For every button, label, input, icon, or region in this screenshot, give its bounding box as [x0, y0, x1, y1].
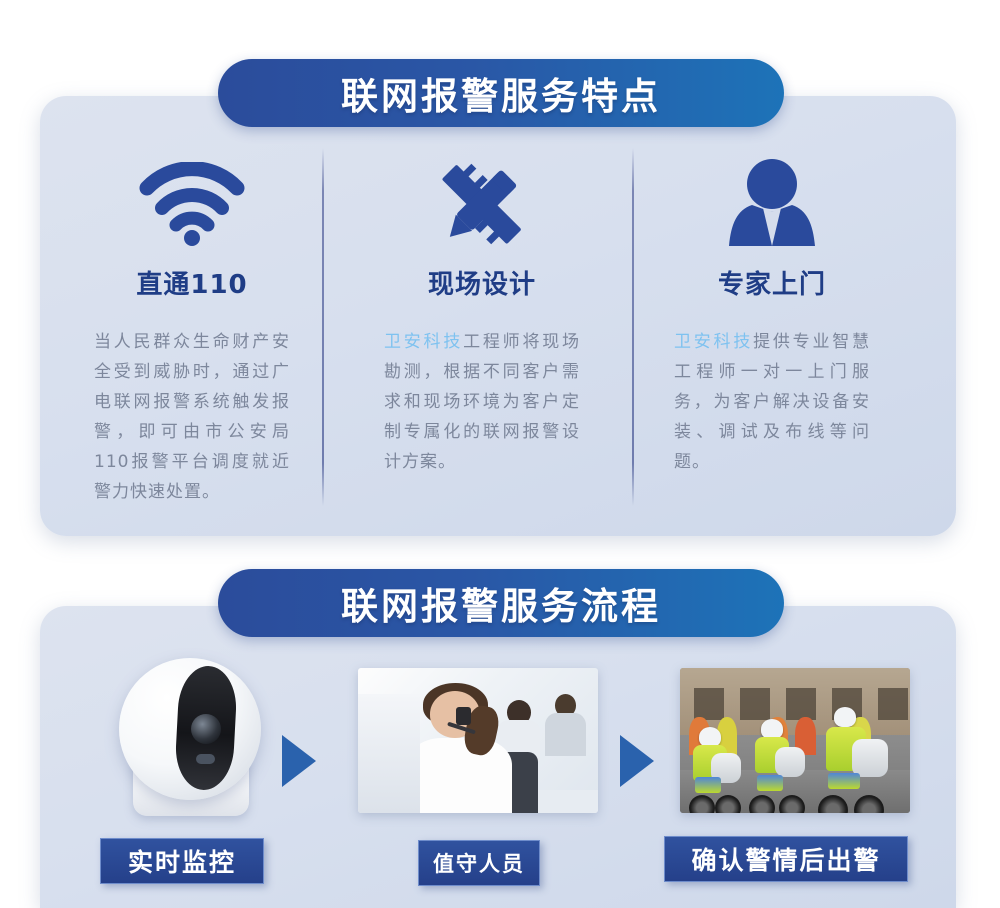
features-heading-pill: 联网报警服务特点 — [218, 59, 784, 127]
right-triangle-arrow-icon-2 — [620, 735, 654, 787]
flow-step-2-label: 值守人员 — [418, 840, 540, 886]
feature-title-2: 现场设计 — [352, 264, 612, 301]
flow-step-1-label-text: 实时监控 — [128, 843, 236, 879]
camera-ir-sensor — [196, 754, 215, 764]
camera-lens — [191, 714, 221, 744]
feature-column-1: 直通110 当人民群众生命财产安全受到威胁时，通过广电联网报警系统触发报警，即可… — [62, 150, 322, 507]
pencil-ruler-icon — [352, 150, 612, 258]
feature-title-3: 专家上门 — [642, 264, 902, 301]
feature-body-3: 卫安科技提供专业智慧工程师一对一上门服务，为客户解决设备安装、调试及布线等问题。 — [674, 327, 870, 477]
call-center-operator-photo — [358, 668, 598, 813]
flow-step-2-image — [358, 668, 598, 813]
flow-step-2-label-text: 值守人员 — [433, 848, 525, 878]
flow-heading-pill: 联网报警服务流程 — [218, 569, 784, 637]
features-heading-text: 联网报警服务特点 — [341, 66, 661, 120]
expert-person-icon — [642, 150, 902, 258]
feature-column-3: 专家上门 卫安科技提供专业智慧工程师一对一上门服务，为客户解决设备安装、调试及布… — [642, 150, 902, 477]
flow-step-1-label: 实时监控 — [100, 838, 264, 884]
column-divider-1 — [322, 148, 324, 506]
brand-name-3: 卫安科技 — [674, 332, 753, 352]
feature-title-1: 直通110 — [62, 264, 322, 301]
infographic-canvas: 联网报警服务特点 直通110 当人民群众生命财产安全受到威胁时，通过广电联网报警… — [0, 0, 1000, 908]
feature-body-1: 当人民群众生命财产安全受到威胁时，通过广电联网报警系统触发报警，即可由市公安局1… — [94, 327, 290, 507]
police-motorcycles-photo — [680, 668, 910, 813]
flow-heading-text: 联网报警服务流程 — [341, 576, 661, 630]
right-triangle-arrow-icon — [282, 735, 316, 787]
feature-body-2: 卫安科技工程师将现场勘测，根据不同客户需求和现场环境为客户定制专属化的联网报警设… — [384, 327, 580, 477]
wifi-icon — [62, 150, 322, 258]
column-divider-2 — [632, 148, 634, 506]
flow-step-3-image — [680, 668, 910, 813]
flow-step-3-label-text: 确认警情后出警 — [691, 841, 880, 877]
flow-step-3-label: 确认警情后出警 — [664, 836, 908, 882]
brand-name-2: 卫安科技 — [384, 332, 463, 352]
feature-column-2: 现场设计 卫安科技工程师将现场勘测，根据不同客户需求和现场环境为客户定制专属化的… — [352, 150, 612, 477]
flow-step-1-image — [95, 650, 295, 825]
